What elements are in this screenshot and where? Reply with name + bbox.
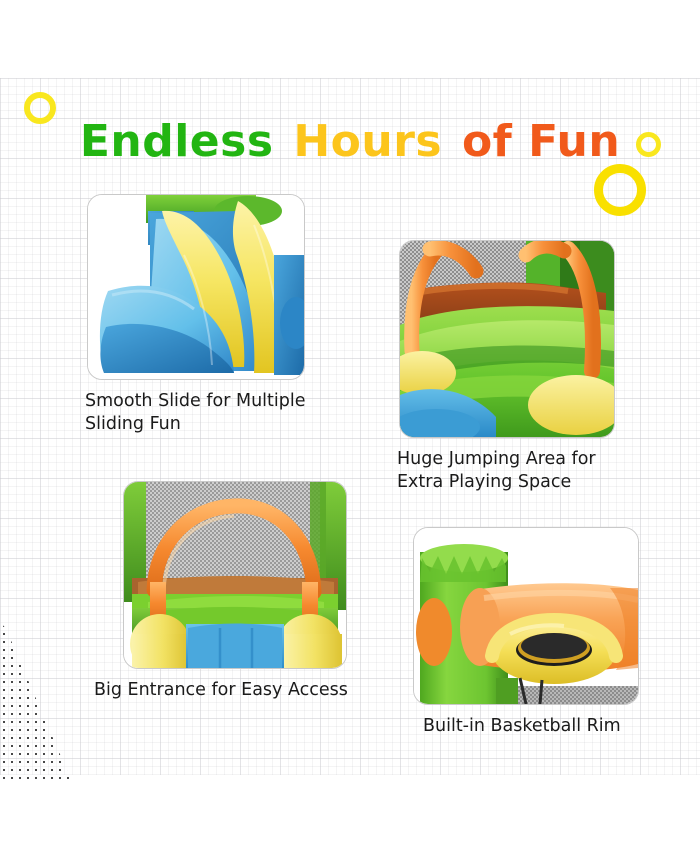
- photo-basketball-rim: [413, 527, 639, 705]
- photo-jumping-area: [399, 240, 615, 438]
- caption-smooth-slide: Smooth Slide for Multiple Sliding Fun: [85, 390, 355, 436]
- caption-jumping-area: Huge Jumping Area for Extra Playing Spac…: [397, 448, 647, 494]
- page-title: Endless Hours of Fun: [0, 116, 700, 167]
- title-word-of-fun: of Fun: [460, 116, 622, 167]
- caption-big-entrance: Big Entrance for Easy Access: [94, 679, 414, 702]
- caption-basketball-rim: Built-in Basketball Rim: [423, 715, 700, 738]
- title-word-hours: Hours: [291, 116, 444, 167]
- photo-big-entrance: [123, 481, 347, 669]
- decorative-ring-icon: [594, 164, 646, 216]
- title-word-endless: Endless: [78, 116, 276, 167]
- photo-smooth-slide: [87, 194, 305, 380]
